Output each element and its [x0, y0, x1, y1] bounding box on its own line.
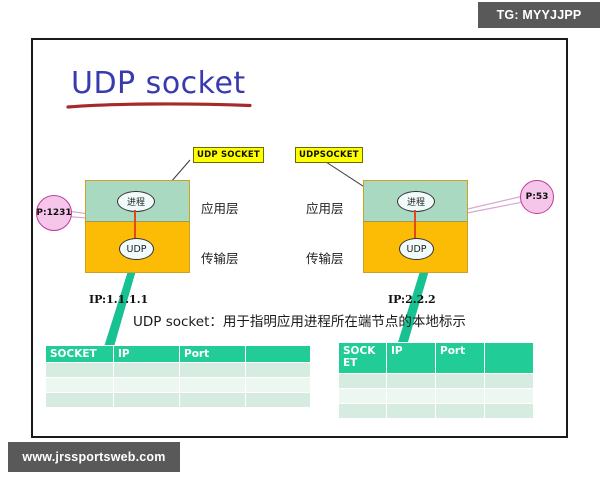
table-cell — [246, 378, 311, 393]
table-header-port: Port — [436, 343, 485, 374]
table-cell — [485, 404, 534, 419]
table-row — [339, 389, 534, 404]
host-right-application-layer-label: 应用层 — [306, 198, 344, 217]
table-cell — [114, 393, 180, 408]
table-header-row: SOCKET IP Port — [46, 346, 311, 363]
host-left-transport-layer-label: 传输层 — [201, 248, 239, 267]
slide-caption: UDP socket：用于指明应用进程所在端节点的本地标示 — [133, 310, 553, 330]
table-row — [46, 363, 311, 378]
table-cell — [387, 374, 436, 389]
socket-table-right: SOCK ET IP Port — [338, 342, 534, 419]
table-header-socket: SOCK ET — [339, 343, 387, 374]
host-left-protocol-stack: 进程 UDP — [85, 180, 190, 273]
table-header-row: SOCK ET IP Port — [339, 343, 534, 374]
table-cell — [436, 404, 485, 419]
host-left-socket-link — [134, 210, 136, 241]
table-cell — [387, 404, 436, 419]
host-right-transport-layer-label: 传输层 — [306, 248, 344, 267]
table-cell — [46, 378, 114, 393]
table-cell — [436, 374, 485, 389]
table-cell — [246, 393, 311, 408]
host-right-process-node: 进程 — [397, 191, 435, 212]
table-cell — [46, 393, 114, 408]
socket-table-left: SOCKET IP Port — [45, 345, 311, 408]
table-cell — [485, 389, 534, 404]
host-left-ip-label: IP:1.1.1.1 — [89, 293, 148, 306]
table-cell — [436, 389, 485, 404]
table-header-socket: SOCKET — [46, 346, 114, 363]
table-cell — [339, 404, 387, 419]
host-right-ip-label: IP:2.2.2 — [388, 293, 436, 306]
table-row — [339, 404, 534, 419]
table-header-ip: IP — [114, 346, 180, 363]
table-cell — [246, 363, 311, 378]
table-cell — [180, 378, 246, 393]
title-underline-stroke — [66, 102, 252, 109]
table-cell — [339, 389, 387, 404]
table-header-port: Port — [180, 346, 246, 363]
table-cell — [114, 378, 180, 393]
host-right-udp-node: UDP — [399, 238, 434, 260]
table-cell — [485, 374, 534, 389]
host-left-port-bubble: P:1231 — [36, 195, 72, 231]
host-left-socket-tag: UDP SOCKET — [193, 147, 264, 163]
telegram-watermark-badge: TG: MYYJJPP — [478, 2, 600, 28]
host-left-application-layer-label: 应用层 — [201, 198, 239, 217]
table-cell — [46, 363, 114, 378]
page-title: UDP socket — [71, 66, 246, 101]
table-cell — [180, 393, 246, 408]
slide-stage: TG: MYYJJPP UDP socket — [0, 0, 600, 480]
table-header-blank — [485, 343, 534, 374]
table-cell — [180, 363, 246, 378]
host-right-port-bubble: P:53 — [520, 180, 554, 214]
host-right-socket-link — [414, 210, 416, 241]
table-cell — [114, 363, 180, 378]
table-row — [339, 374, 534, 389]
table-row — [46, 393, 311, 408]
host-right-protocol-stack: 进程 UDP — [363, 180, 468, 273]
table-header-blank — [246, 346, 311, 363]
table-cell — [339, 374, 387, 389]
host-left-udp-node: UDP — [119, 238, 154, 260]
table-header-ip: IP — [387, 343, 436, 374]
table-row — [46, 378, 311, 393]
host-right-socket-tag: UDPSOCKET — [295, 147, 363, 163]
slide-card: UDP socket 进程 UDP — [31, 38, 568, 438]
website-watermark-badge: www.jrssportsweb.com — [8, 442, 180, 472]
table-cell — [387, 389, 436, 404]
host-left-process-node: 进程 — [117, 191, 155, 212]
